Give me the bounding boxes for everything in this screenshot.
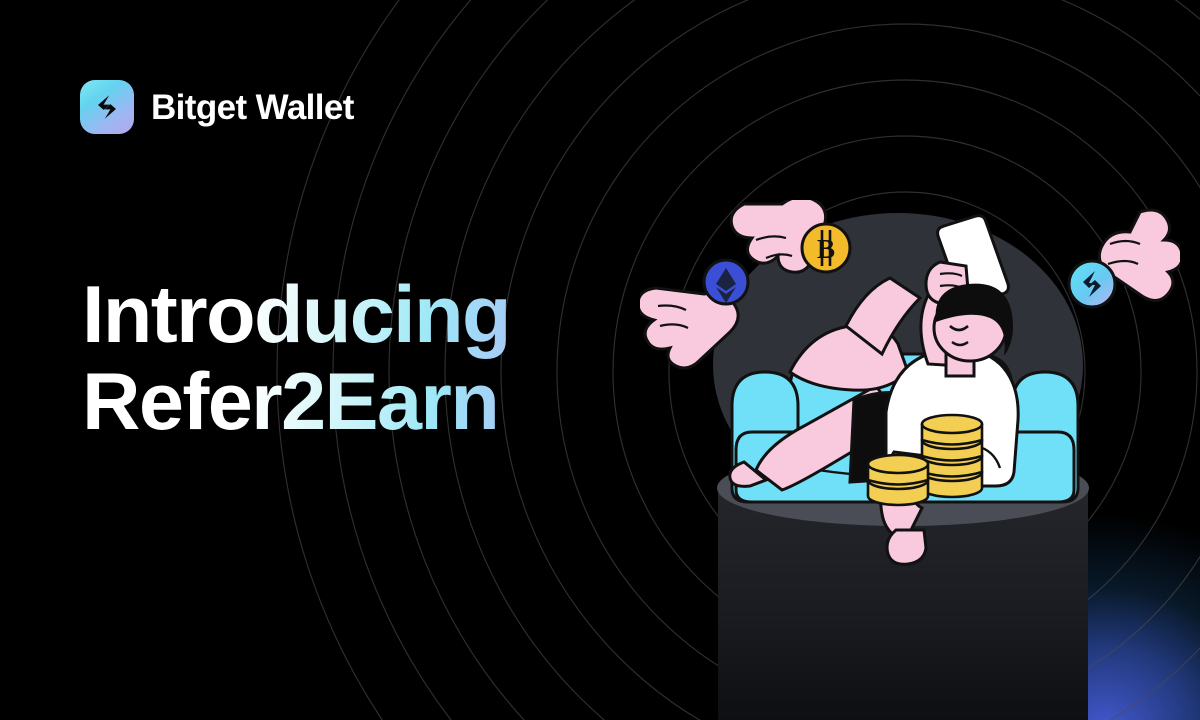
bitget-chevron-logo-icon — [80, 80, 134, 134]
brand-lockup[interactable]: Bitget Wallet — [80, 80, 354, 134]
page-title: Introducing Refer2Earn — [82, 272, 642, 445]
hand-offering-bitcoin: B — [731, 200, 850, 272]
hero-illustration: B — [640, 200, 1180, 720]
tall-coin-stack — [922, 415, 982, 497]
headline-line-2: Refer2Earn — [82, 359, 642, 446]
brand-wordmark: Bitget Wallet — [151, 90, 354, 125]
hand-offering-bitget-token — [1069, 210, 1180, 307]
headline-line-1: Introducing — [82, 272, 642, 359]
promo-banner: Bitget Wallet Introducing Refer2Earn — [0, 0, 1200, 720]
short-coin-stack — [868, 455, 928, 505]
svg-text:B: B — [817, 234, 835, 264]
